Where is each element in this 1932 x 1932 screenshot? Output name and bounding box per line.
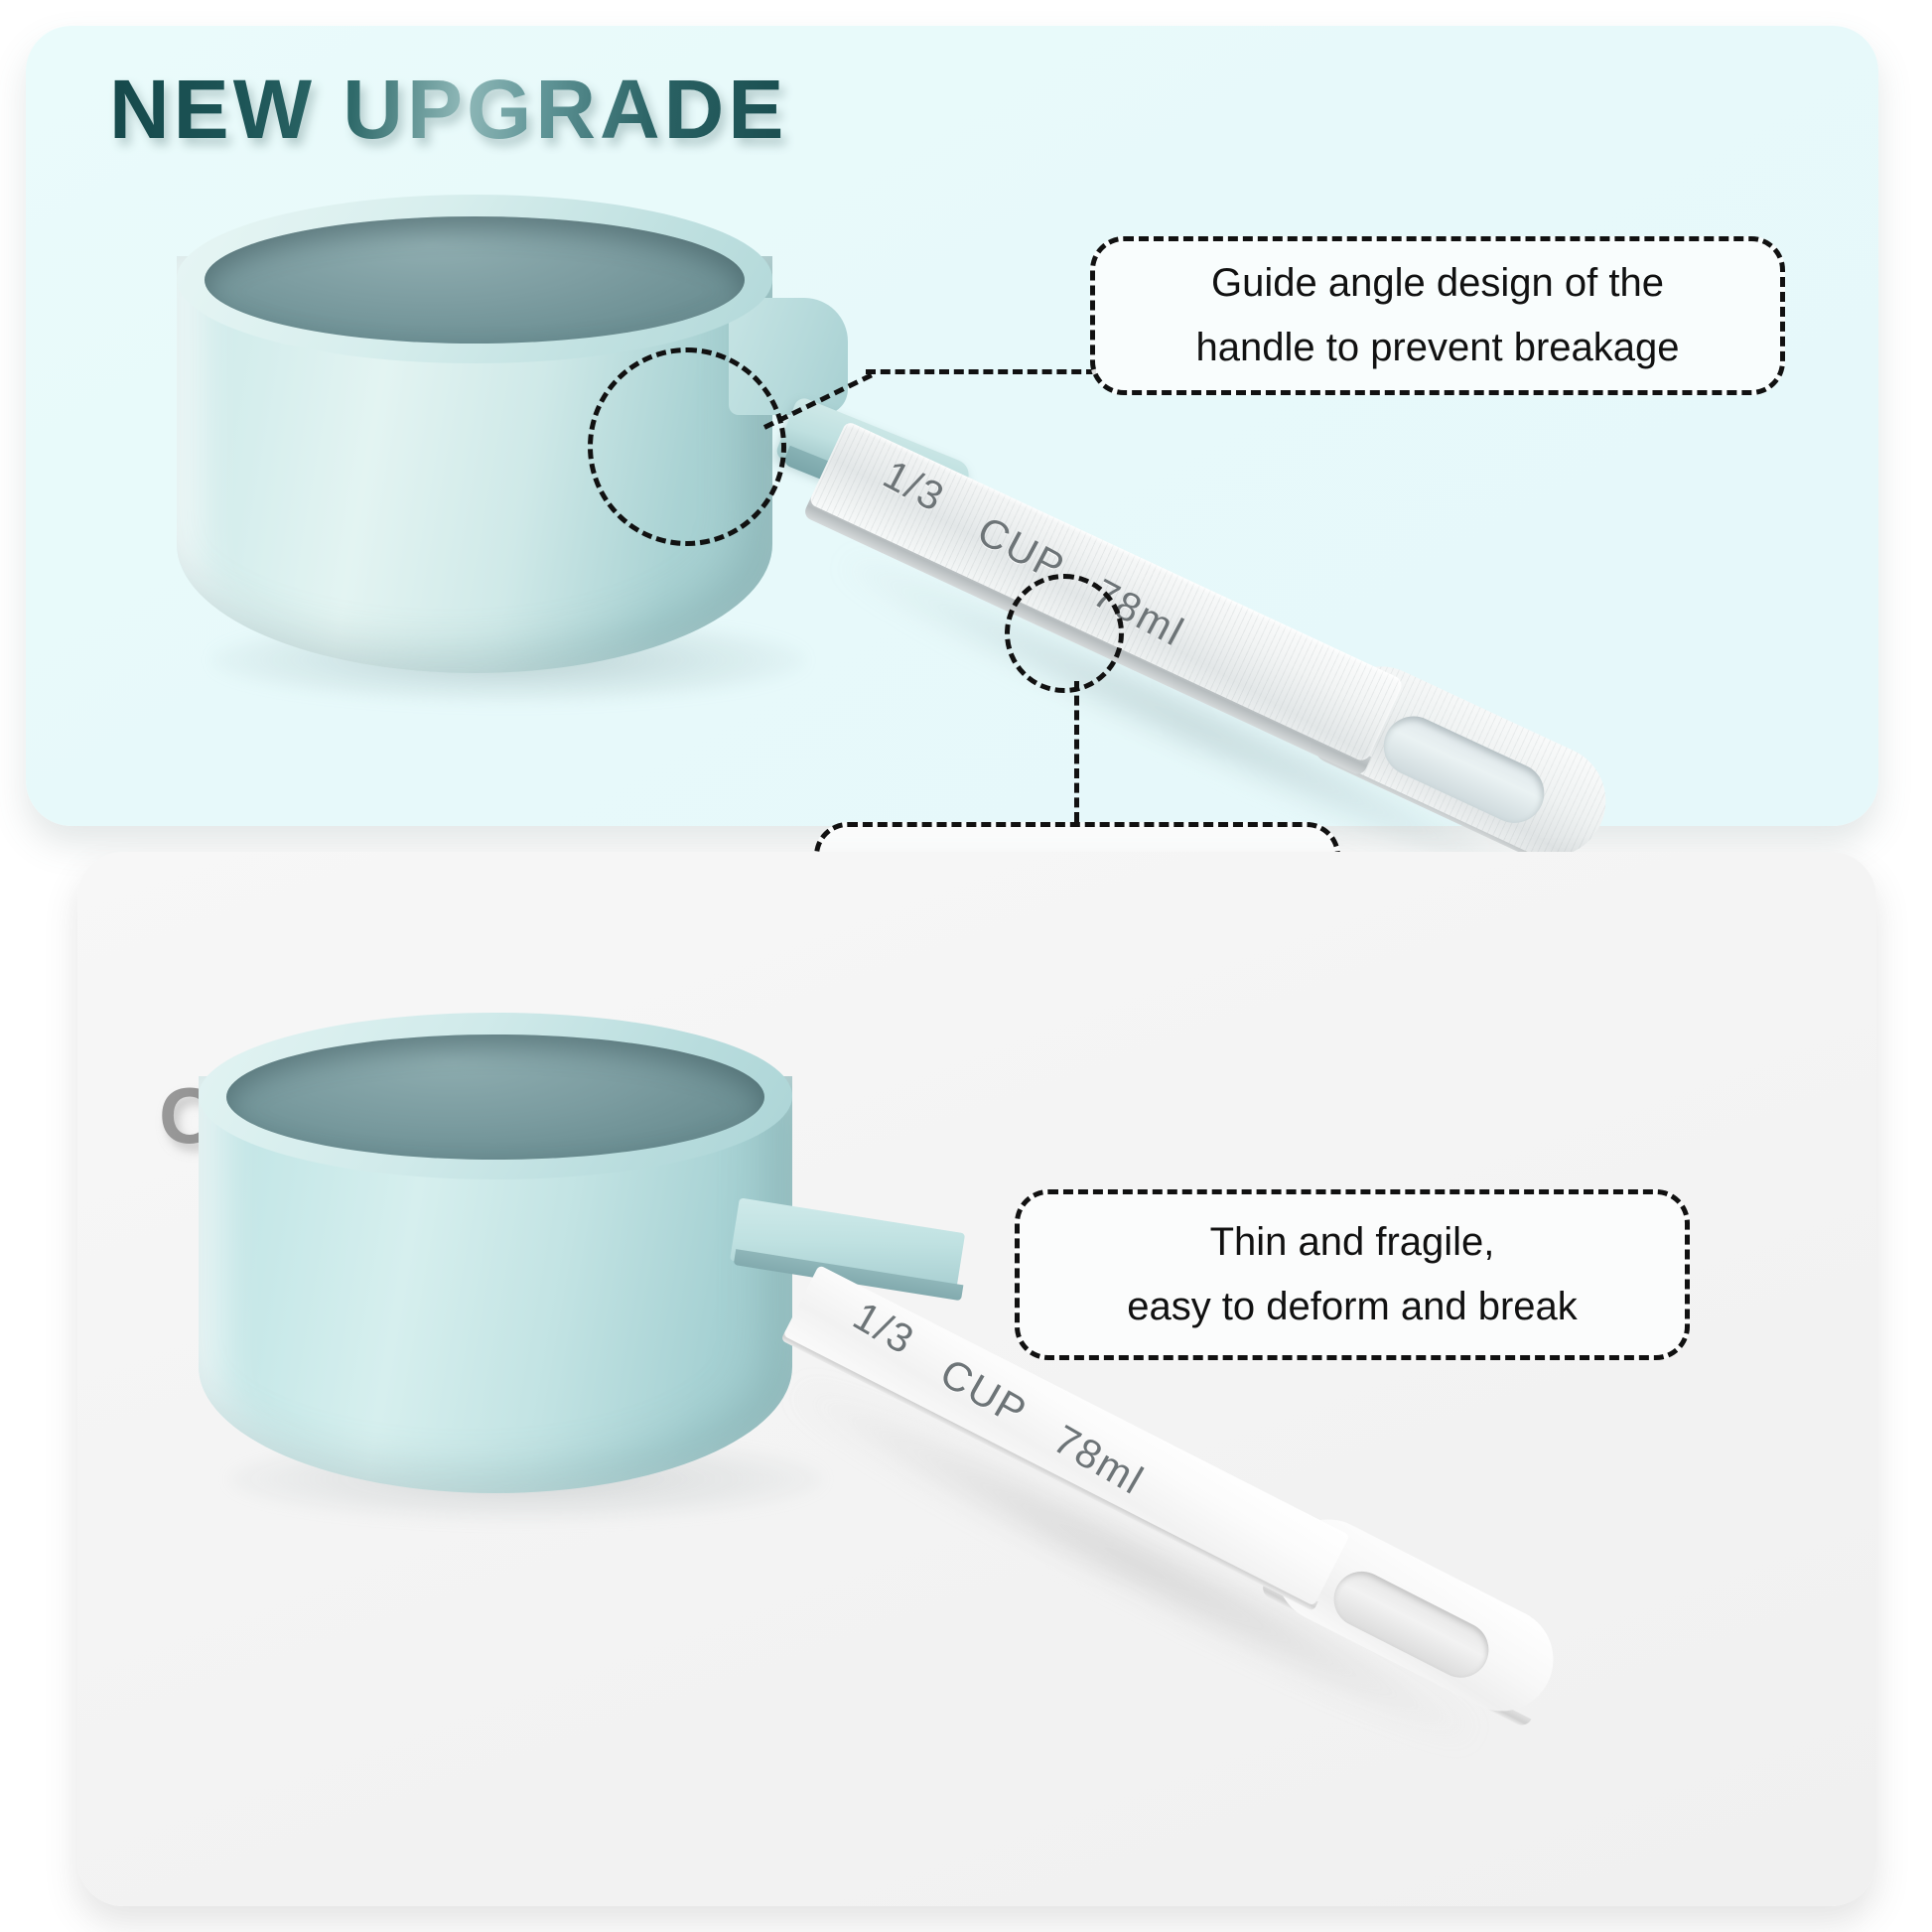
other-measuring-cup <box>199 1013 834 1529</box>
new-upgrade-title: NEW UPGRADE <box>109 62 787 158</box>
other-cup-interior <box>226 1035 764 1160</box>
guide-angle-callout: Guide angle design of the handle to prev… <box>1090 236 1785 395</box>
fragile-callout: Thin and fragile, easy to deform and bre… <box>1015 1189 1690 1360</box>
thickness-leader-line <box>1074 681 1079 822</box>
thickness-marker-circle <box>1005 574 1124 693</box>
fragile-callout-line2: easy to deform and break <box>1053 1275 1651 1339</box>
cup-interior <box>205 216 745 344</box>
fragile-callout-line1: Thin and fragile, <box>1053 1210 1651 1275</box>
guide-callout-line2: handle to prevent breakage <box>1129 316 1746 380</box>
guide-angle-marker-circle <box>588 347 786 546</box>
guide-leader-line-horizontal <box>866 369 1096 374</box>
guide-callout-line1: Guide angle design of the <box>1129 251 1746 316</box>
